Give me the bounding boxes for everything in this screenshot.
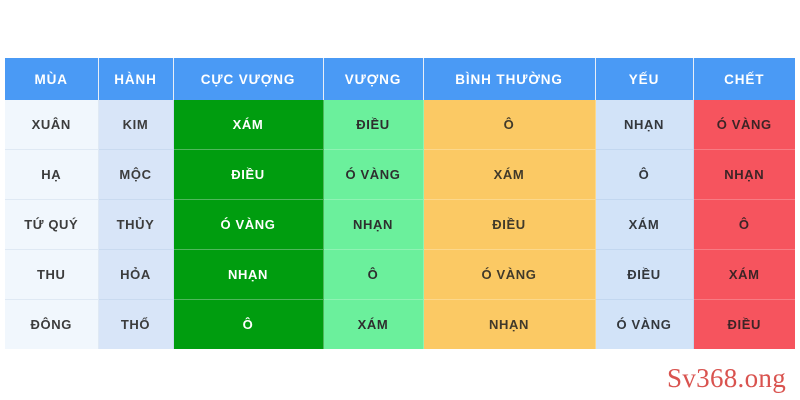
cell-cuc-vuong: Ó VÀNG <box>173 200 323 250</box>
cell-vuong: NHẠN <box>323 200 423 250</box>
column-header-yeu: YẾU <box>595 58 693 100</box>
cell-chet: ĐIỀU <box>693 300 795 350</box>
table-row: ĐÔNG THỔ Ô XÁM NHẠN Ó VÀNG ĐIỀU <box>5 300 795 350</box>
column-header-hanh: HÀNH <box>98 58 173 100</box>
cell-binh-thuong: Ó VÀNG <box>423 250 595 300</box>
column-header-mua: MÙA <box>5 58 98 100</box>
cell-yeu: XÁM <box>595 200 693 250</box>
table-row: THU HỎA NHẠN Ô Ó VÀNG ĐIỀU XÁM <box>5 250 795 300</box>
site-watermark: Sv368.ong <box>667 365 786 392</box>
cell-mua: TỨ QUÝ <box>5 200 98 250</box>
cell-chet: XÁM <box>693 250 795 300</box>
cell-binh-thuong: Ô <box>423 100 595 150</box>
cell-hanh: MỘC <box>98 150 173 200</box>
table-header-row: MÙA HÀNH CỰC VƯỢNG VƯỢNG BÌNH THƯỜNG YẾU… <box>5 58 795 100</box>
cell-binh-thuong: XÁM <box>423 150 595 200</box>
cell-yeu: Ó VÀNG <box>595 300 693 350</box>
cell-cuc-vuong: ĐIỀU <box>173 150 323 200</box>
cell-hanh: THỔ <box>98 300 173 350</box>
season-element-table-container: MÙA HÀNH CỰC VƯỢNG VƯỢNG BÌNH THƯỜNG YẾU… <box>5 58 795 349</box>
cell-mua: XUÂN <box>5 100 98 150</box>
cell-yeu: ĐIỀU <box>595 250 693 300</box>
column-header-vuong: VƯỢNG <box>323 58 423 100</box>
cell-binh-thuong: ĐIỀU <box>423 200 595 250</box>
cell-cuc-vuong: NHẠN <box>173 250 323 300</box>
cell-hanh: HỎA <box>98 250 173 300</box>
column-header-binh-thuong: BÌNH THƯỜNG <box>423 58 595 100</box>
column-header-chet: CHẾT <box>693 58 795 100</box>
cell-mua: THU <box>5 250 98 300</box>
table-row: HẠ MỘC ĐIỀU Ó VÀNG XÁM Ô NHẠN <box>5 150 795 200</box>
cell-hanh: KIM <box>98 100 173 150</box>
cell-binh-thuong: NHẠN <box>423 300 595 350</box>
table-row: XUÂN KIM XÁM ĐIỀU Ô NHẠN Ó VÀNG <box>5 100 795 150</box>
cell-chet: Ô <box>693 200 795 250</box>
cell-hanh: THỦY <box>98 200 173 250</box>
cell-cuc-vuong: Ô <box>173 300 323 350</box>
cell-vuong: Ó VÀNG <box>323 150 423 200</box>
cell-vuong: ĐIỀU <box>323 100 423 150</box>
table-header: MÙA HÀNH CỰC VƯỢNG VƯỢNG BÌNH THƯỜNG YẾU… <box>5 58 795 100</box>
cell-mua: ĐÔNG <box>5 300 98 350</box>
season-element-table: MÙA HÀNH CỰC VƯỢNG VƯỢNG BÌNH THƯỜNG YẾU… <box>5 58 795 349</box>
cell-mua: HẠ <box>5 150 98 200</box>
cell-chet: Ó VÀNG <box>693 100 795 150</box>
cell-yeu: Ô <box>595 150 693 200</box>
cell-vuong: Ô <box>323 250 423 300</box>
table-body: XUÂN KIM XÁM ĐIỀU Ô NHẠN Ó VÀNG HẠ MỘC Đ… <box>5 100 795 349</box>
cell-vuong: XÁM <box>323 300 423 350</box>
cell-cuc-vuong: XÁM <box>173 100 323 150</box>
column-header-cuc-vuong: CỰC VƯỢNG <box>173 58 323 100</box>
cell-yeu: NHẠN <box>595 100 693 150</box>
table-row: TỨ QUÝ THỦY Ó VÀNG NHẠN ĐIỀU XÁM Ô <box>5 200 795 250</box>
cell-chet: NHẠN <box>693 150 795 200</box>
